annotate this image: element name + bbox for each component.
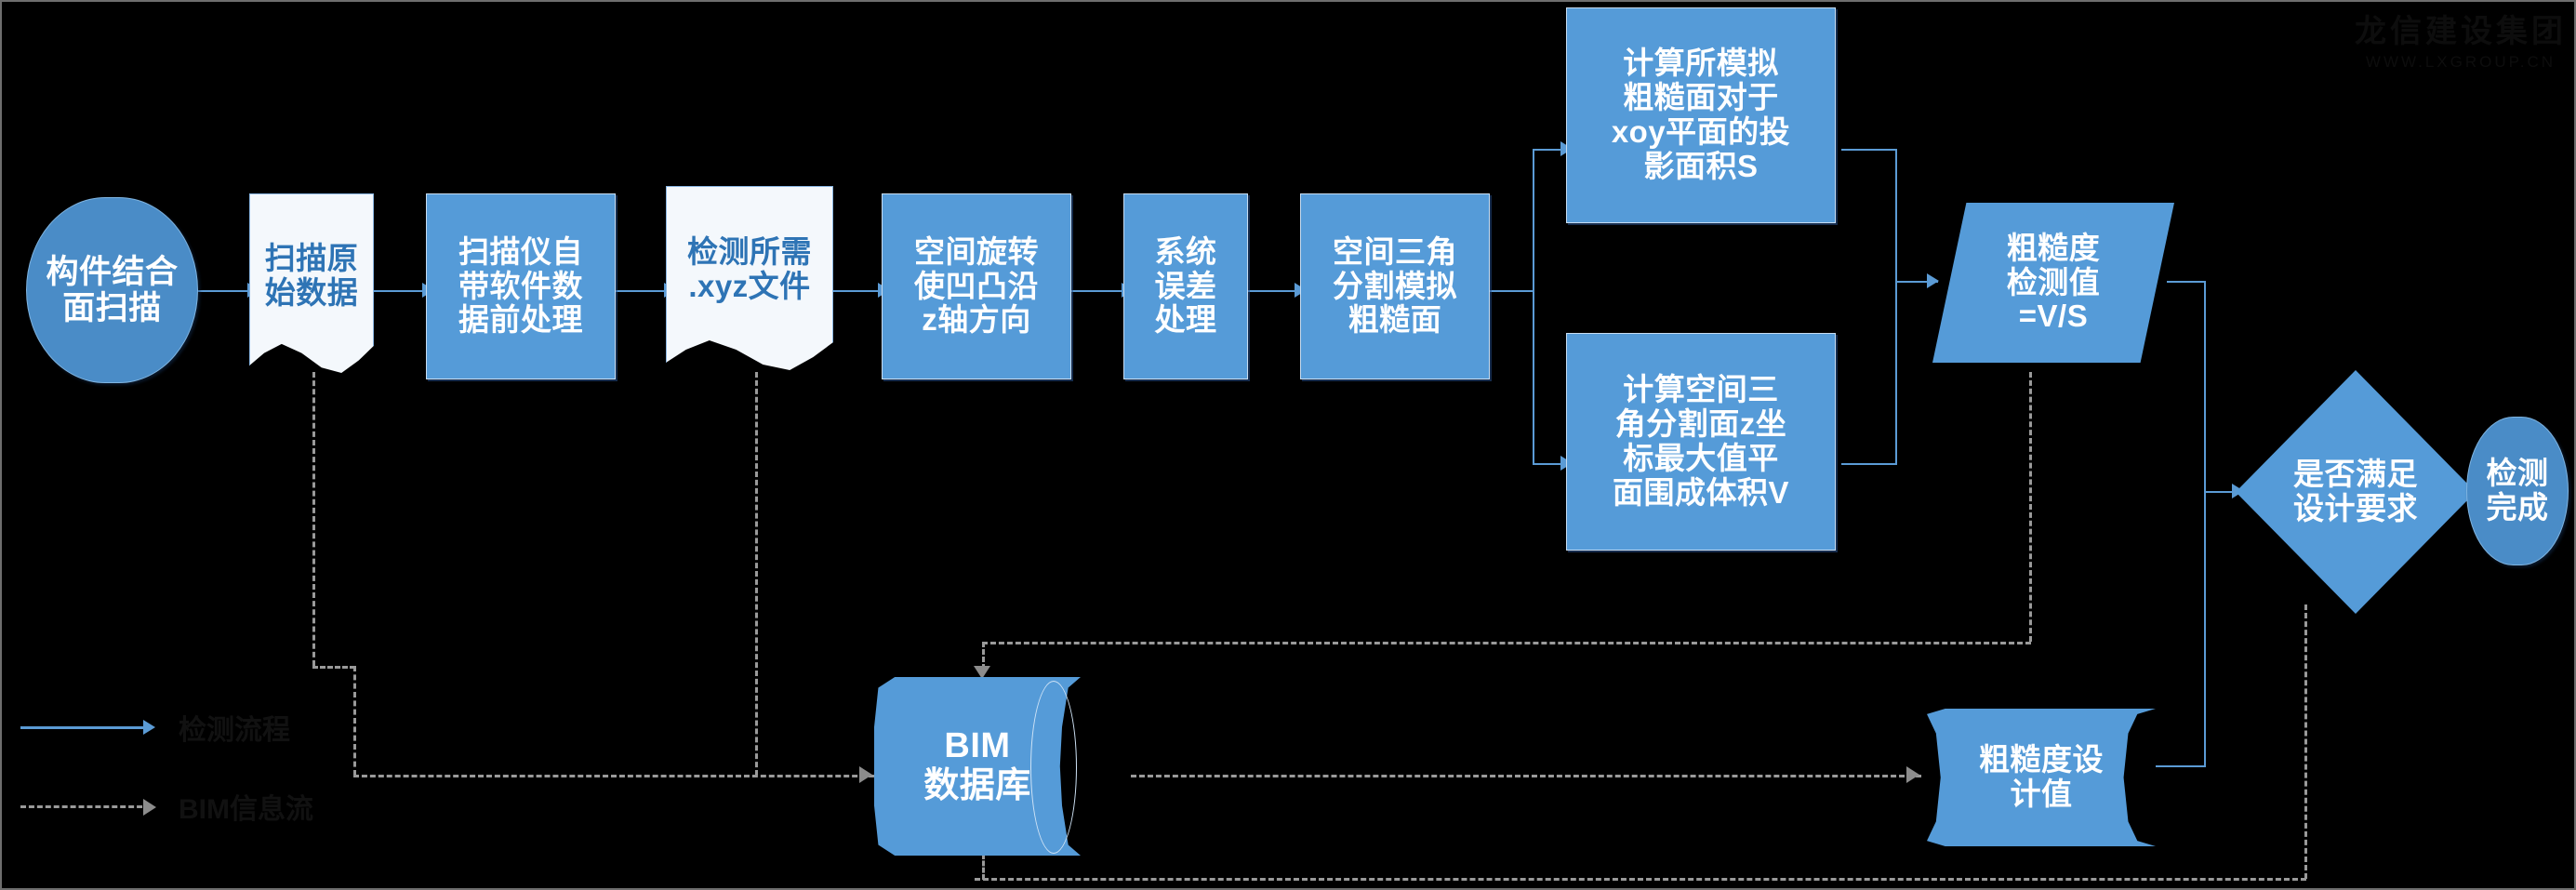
connector-raw-to-preprocess	[372, 290, 430, 292]
node-volume-v-label: 计算空间三 角分割面z坐 标最大值平 面围成体积V	[1613, 373, 1789, 511]
connector-roughness-out	[2167, 281, 2206, 283]
connector-roughness-down	[2204, 281, 2206, 493]
dashed-roughness-left	[982, 642, 2031, 644]
node-roughness-value[interactable]: 粗糙度 检测值 =V/S	[1932, 203, 2174, 363]
node-bim-database[interactable]: BIM 数据库	[874, 677, 1081, 856]
node-error-handling-label: 系统 误差 处理	[1155, 235, 1217, 339]
watermark-company-name: 龙信建设集团	[2355, 6, 2567, 51]
node-projection-area-s[interactable]: 计算所模拟 粗糙面对于 xoy平面的投 影面积S	[1566, 7, 1836, 223]
arrowhead-dashed-to-bim-db	[859, 766, 872, 783]
dashed-bottom-return	[975, 878, 2306, 881]
node-xyz-file-label: 检测所需 .xyz文件	[687, 235, 812, 304]
watermark-url: WWW.LXGROUP.CN	[2355, 53, 2567, 72]
dashed-xyz-down	[755, 372, 758, 776]
dashed-rawdata-jog	[312, 666, 355, 669]
node-roughness-value-label: 粗糙度 检测值 =V/S	[2007, 232, 2101, 335]
node-volume-v[interactable]: 计算空间三 角分割面z坐 标最大值平 面围成体积V	[1566, 333, 1836, 551]
node-triangulate[interactable]: 空间三角 分割模拟 粗糙面	[1300, 193, 1490, 379]
connector-preprocess-to-xyz	[614, 290, 671, 292]
connector-split-vertical	[1533, 149, 1534, 465]
node-finish[interactable]: 检测 完成	[2466, 417, 2569, 565]
node-design-value-label: 粗糙度设 计值	[1979, 743, 2104, 812]
connector-rotate-to-error	[1071, 290, 1129, 292]
arrowhead-dashed-into-bimdb-top	[974, 666, 990, 679]
node-scan-start-label: 构件结合 面扫描	[46, 254, 178, 326]
node-projection-area-s-label: 计算所模拟 粗糙面对于 xoy平面的投 影面积S	[1612, 46, 1790, 184]
node-preprocess-label: 扫描仪自 带软件数 据前处理	[458, 235, 583, 339]
connector-merge-vertical	[1895, 149, 1897, 465]
node-decision[interactable]: 是否满足 设计要求	[2236, 370, 2476, 614]
dashed-decision-down	[2304, 604, 2307, 879]
node-bim-database-label: BIM 数据库	[923, 726, 1031, 805]
legend-label-bim-info-flow: BIM信息流	[179, 786, 313, 827]
legend-dashed-line	[20, 805, 151, 808]
connector-volume-v-out	[1841, 463, 1897, 465]
dashed-bimdb-to-designval	[1131, 775, 1921, 777]
node-finish-label: 检测 完成	[2487, 457, 2549, 525]
watermark: 龙信建设集团 WWW.LXGROUP.CN	[2355, 6, 2567, 72]
dashed-rawdata-down2	[353, 666, 356, 776]
dashed-to-bim-db	[353, 775, 874, 777]
node-error-handling[interactable]: 系统 误差 处理	[1123, 193, 1248, 379]
legend-arrow-dashed-icon	[143, 799, 156, 816]
arrowhead-merge-to-roughness	[1927, 273, 1939, 288]
node-rotate[interactable]: 空间旋转 使凹凸沿 z轴方向	[882, 193, 1071, 379]
connector-triangulate-out	[1486, 290, 1534, 292]
dashed-roughness-down	[2029, 372, 2032, 642]
node-raw-data[interactable]: 扫描原 始数据	[249, 193, 374, 375]
image-border	[0, 0, 2576, 890]
node-xyz-file[interactable]: 检测所需 .xyz文件	[666, 186, 833, 372]
node-raw-data-label: 扫描原 始数据	[265, 242, 359, 311]
connector-area-s-out	[1841, 149, 1897, 151]
node-decision-label: 是否满足 设计要求	[2293, 458, 2418, 526]
node-design-value[interactable]: 粗糙度设 计值	[1927, 709, 2156, 846]
flowchart-canvas: 构件结合 面扫描 扫描原 始数据 扫描仪自 带软件数 据前处理 检测所需 .xy…	[0, 0, 2576, 890]
legend-arrow-solid-icon	[143, 720, 155, 735]
node-rotate-label: 空间旋转 使凹凸沿 z轴方向	[914, 235, 1039, 339]
connector-designval-up	[2204, 491, 2206, 767]
connector-xyz-to-rotate	[828, 290, 885, 292]
legend-solid-line	[20, 726, 151, 729]
legend-item-bim-info-flow: BIM信息流	[20, 786, 313, 827]
node-scan-start[interactable]: 构件结合 面扫描	[26, 197, 198, 383]
dashed-rawdata-down	[312, 372, 315, 666]
node-preprocess[interactable]: 扫描仪自 带软件数 据前处理	[426, 193, 616, 379]
legend-label-process-flow: 检测流程	[179, 707, 290, 748]
dashed-up-into-bimdb	[982, 854, 985, 880]
arrowhead-dashed-to-designval	[1906, 766, 1919, 783]
connector-scan-to-raw	[197, 290, 255, 292]
connector-error-to-triangulate	[1244, 290, 1302, 292]
node-triangulate-label: 空间三角 分割模拟 粗糙面	[1333, 235, 1457, 339]
legend-item-process-flow: 检测流程	[20, 707, 290, 748]
connector-designval-out	[2156, 765, 2206, 767]
